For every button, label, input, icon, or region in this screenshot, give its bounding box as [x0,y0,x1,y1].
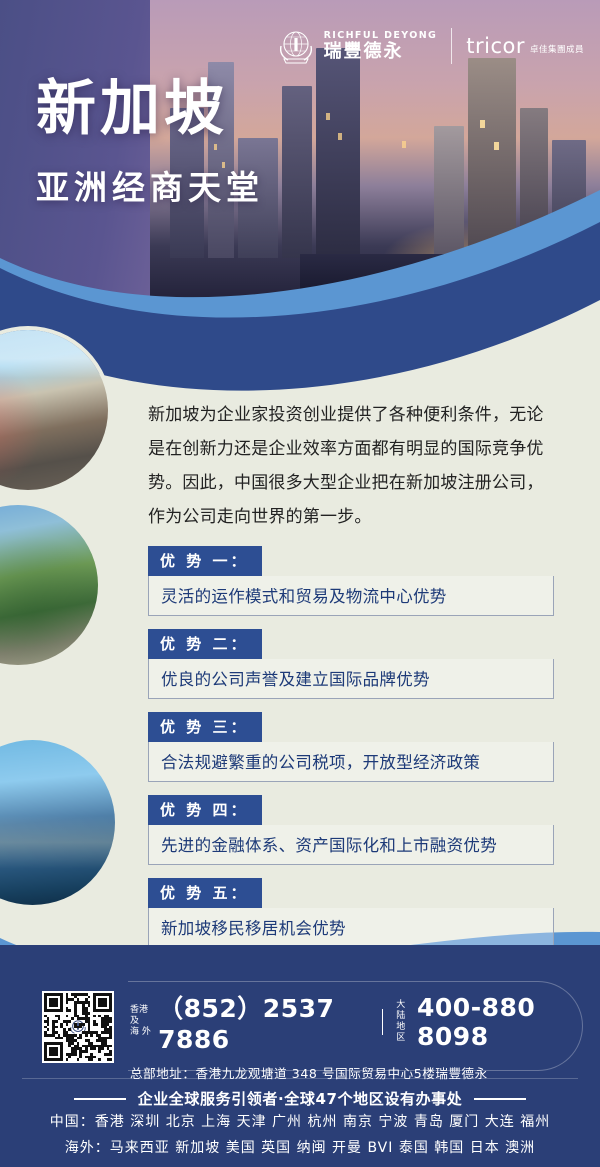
region-list: 中国：香港 深圳 北京 上海 天津 广州 杭州 南京 宁波 青岛 厦门 大连 福… [0,1109,600,1161]
advantage-item-3: 优 势 三： 合法规避繁重的公司税项，开放型经济政策 [148,712,554,782]
partner-logo: tricor 卓佳集團成員 [466,34,584,58]
advantage-tag: 优 势 三： [148,712,262,742]
logo-divider [451,28,452,64]
photo-circle-shophouses [0,330,108,490]
advantage-text: 灵活的运作模式和贸易及物流中心优势 [148,576,554,616]
partner-name: tricor [466,34,525,58]
brand-logo: RICHFUL DEYONG 瑞豐德永 tricor 卓佳集團成員 [276,26,584,66]
footer: 香港及 海 外 （852）2537 7886 大陆 地区 400-880 809… [0,945,600,1167]
page-subtitle: 亚洲经商天堂 [36,161,264,209]
dash-left [74,1098,126,1100]
brand-text: RICHFUL DEYONG 瑞豐德永 [324,31,438,62]
advantage-text: 新加坡移民移居机会优势 [148,908,554,948]
hk-phone-number[interactable]: （852）2537 7886 [158,989,369,1054]
phone-divider [382,1009,384,1035]
brand-english-name: RICHFUL DEYONG [324,31,438,41]
cn-phone-number[interactable]: 400-880 8098 [417,993,580,1051]
waterfront-strip [300,254,600,300]
advantage-item-1: 优 势 一： 灵活的运作模式和贸易及物流中心优势 [148,546,554,616]
brand-chinese-name: 瑞豐德永 [324,43,438,61]
dash-right [474,1098,526,1100]
footer-divider [22,1078,578,1079]
advantage-item-5: 优 势 五： 新加坡移民移居机会优势 [148,878,554,948]
photo-circle-marina-bay [0,740,115,905]
advantage-tag: 优 势 五： [148,878,262,908]
advantage-tag: 优 势 二： [148,629,262,659]
advantage-text: 先进的金融体系、资产国际化和上市融资优势 [148,825,554,865]
partner-suffix: 卓佳集團成員 [530,43,584,58]
advantage-text: 合法规避繁重的公司税项，开放型经济政策 [148,742,554,782]
regions-china: 中国：香港 深圳 北京 上海 天津 广州 杭州 南京 宁波 青岛 厦门 大连 福… [0,1109,600,1135]
hk-label: 香港及 海 外 [130,1005,152,1038]
footer-tagline: 企业全球服务引领者·全球47个地区设有办事处 [0,1088,600,1109]
advantage-tag: 优 势 一： [148,546,262,576]
regions-overseas: 海外：马来西亚 新加坡 美国 英国 纳闽 开曼 BVI 泰国 韩国 日本 澳洲 [0,1135,600,1161]
qr-code[interactable] [42,991,114,1063]
cn-label: 大陆 地区 [396,1000,411,1044]
advantage-text: 优良的公司声誉及建立国际品牌优势 [148,659,554,699]
advantage-item-2: 优 势 二： 优良的公司声誉及建立国际品牌优势 [148,629,554,699]
office-address: 总部地址：香港九龙观塘道 348 号国际贸易中心5楼瑞豐德永 [130,1063,580,1082]
poster-root: 新加坡 亚洲经商天堂 RICHFUL DEYONG 瑞豐德永 tricor [0,0,600,1167]
contact-block: 香港及 海 外 （852）2537 7886 大陆 地区 400-880 809… [130,989,580,1082]
wreath-emblem-icon [276,26,316,66]
title-block: 新加坡 亚洲经商天堂 [36,78,264,209]
photo-circle-riverside [0,505,98,665]
page-title: 新加坡 [36,78,264,141]
advantage-tag: 优 势 四： [148,795,262,825]
intro-paragraph: 新加坡为企业家投资创业提供了各种便利条件，无论是在创新力还是企业效率方面都有明显… [148,398,552,534]
phone-row: 香港及 海 外 （852）2537 7886 大陆 地区 400-880 809… [130,989,580,1054]
tagline-text: 企业全球服务引领者·全球47个地区设有办事处 [138,1088,463,1109]
advantage-list: 优 势 一： 灵活的运作模式和贸易及物流中心优势 优 势 二： 优良的公司声誉及… [148,546,554,961]
advantage-item-4: 优 势 四： 先进的金融体系、资产国际化和上市融资优势 [148,795,554,865]
